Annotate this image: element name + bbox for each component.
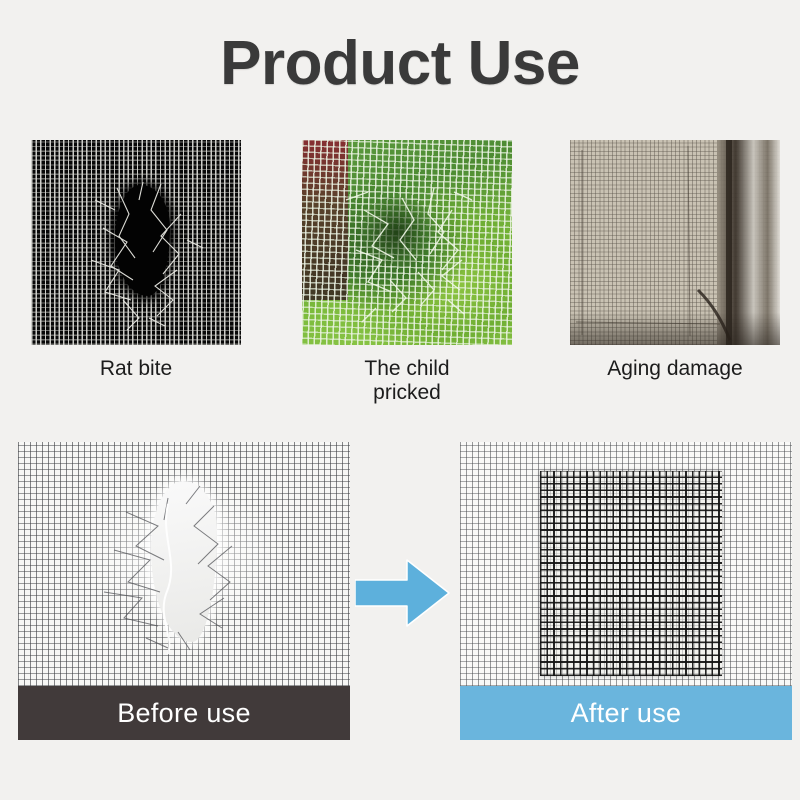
before-use-caption-bar: Before use: [18, 686, 350, 740]
frayed-threads-overlay: [302, 140, 512, 345]
after-use-photo: [460, 442, 792, 686]
before-use-panel: Before use: [18, 442, 350, 740]
child-pricked-photo: [302, 140, 512, 345]
rat-bite-photo: [31, 140, 241, 345]
damage-caption: Rat bite: [31, 357, 241, 381]
frayed-threads-overlay: [18, 442, 350, 686]
damage-caption: Aging damage: [570, 357, 780, 381]
repair-patch: [540, 471, 723, 676]
arrow-right-icon: [355, 558, 451, 628]
after-use-label: After use: [571, 698, 682, 729]
frayed-threads-overlay: [31, 140, 241, 345]
damage-card-rat-bite: Rat bite: [31, 140, 241, 381]
before-use-label: Before use: [117, 698, 251, 729]
wear-marks-overlay: [570, 140, 780, 345]
aging-damage-photo: [570, 140, 780, 345]
before-use-photo: [18, 442, 350, 686]
damage-examples-row: Rat bite: [0, 140, 800, 400]
page-title: Product Use: [0, 28, 800, 99]
damage-caption: The child pricked: [302, 357, 512, 404]
damage-card-child-pricked: The child pricked: [302, 140, 512, 404]
after-use-caption-bar: After use: [460, 686, 792, 740]
damage-card-aging-damage: Aging damage: [570, 140, 780, 381]
after-use-panel: After use: [460, 442, 792, 740]
